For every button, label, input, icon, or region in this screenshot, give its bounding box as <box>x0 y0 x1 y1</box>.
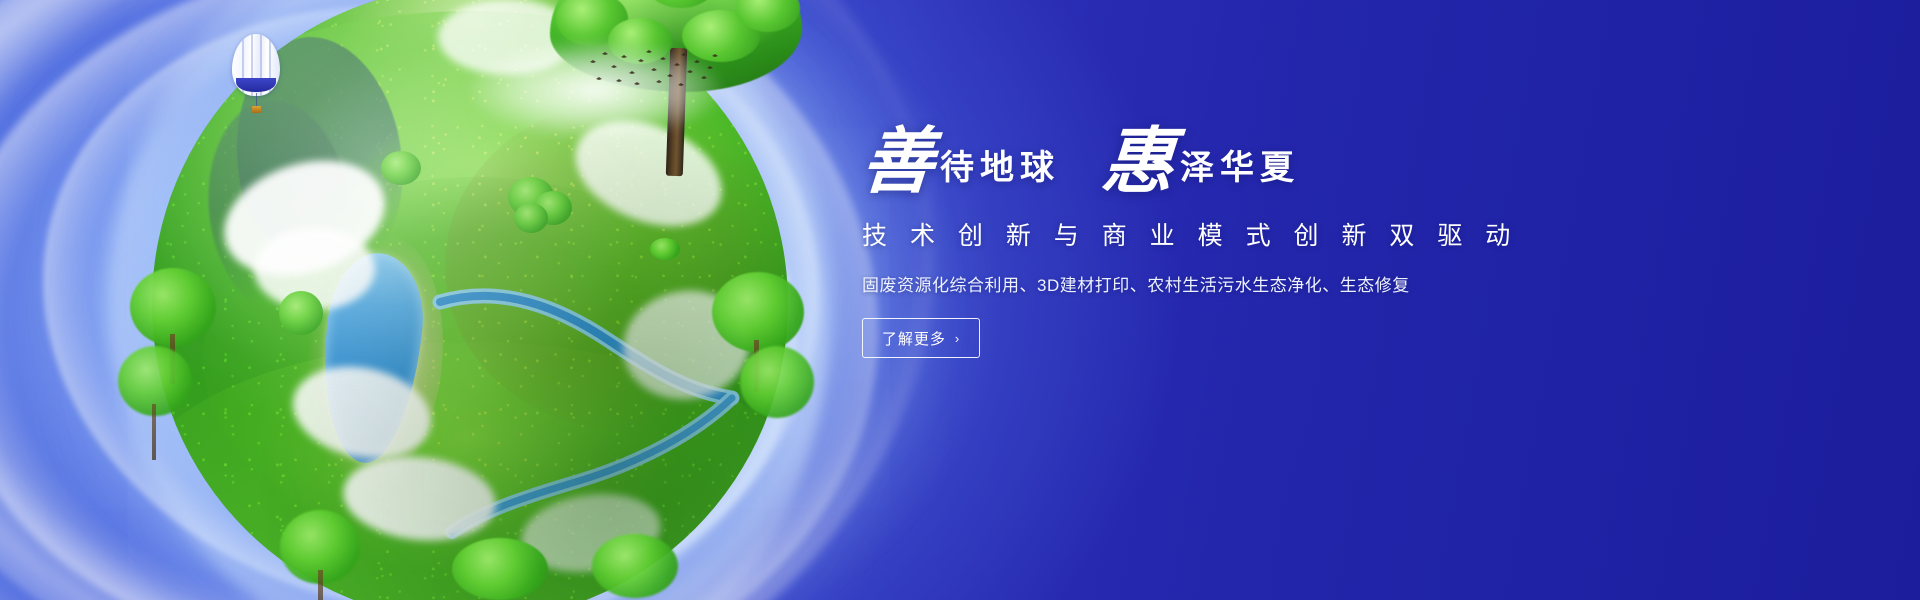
globe-cloud-3 <box>284 354 439 470</box>
headline-phrase-1: 善 待地球 <box>862 128 1060 194</box>
learn-more-button[interactable]: 了解更多 › <box>862 318 980 358</box>
hero-content: 善 待地球 惠 泽华夏 技 术 创 新 与 商 业 模 式 创 新 双 驱 动 … <box>862 128 1622 358</box>
hot-air-balloon-icon <box>232 34 280 126</box>
globe-cloud-2 <box>254 228 375 311</box>
lake-shoreline <box>295 228 454 495</box>
globe-cloud-4 <box>339 449 499 547</box>
learn-more-label: 了解更多 <box>882 328 946 349</box>
balloon-basket <box>252 106 261 113</box>
headline-char-large-1: 善 <box>860 128 937 194</box>
headline-chars-small-2: 泽华夏 <box>1180 151 1300 194</box>
hero-headline: 善 待地球 惠 泽华夏 <box>862 128 1622 194</box>
headline-phrase-2: 惠 泽华夏 <box>1102 128 1300 194</box>
headline-chars-small-1: 待地球 <box>940 151 1060 194</box>
chevron-right-icon: › <box>955 332 960 345</box>
hero-subtitle: 技 术 创 新 与 商 业 模 式 创 新 双 驱 动 <box>862 216 1622 252</box>
bird-flock-icon <box>588 48 718 90</box>
hero-description: 固废资源化综合利用、3D建材打印、农村生活污水生态净化、生态修复 <box>862 271 1622 296</box>
lake <box>313 249 430 468</box>
grass-band-2 <box>203 177 750 546</box>
mountain-range-secondary <box>198 94 360 324</box>
balloon-rope <box>256 93 257 107</box>
globe-cloud-1 <box>209 141 400 295</box>
headline-char-large-2: 惠 <box>1100 128 1177 194</box>
hero-banner: 善 待地球 惠 泽华夏 技 术 创 新 与 商 业 模 式 创 新 双 驱 动 … <box>0 0 1920 600</box>
